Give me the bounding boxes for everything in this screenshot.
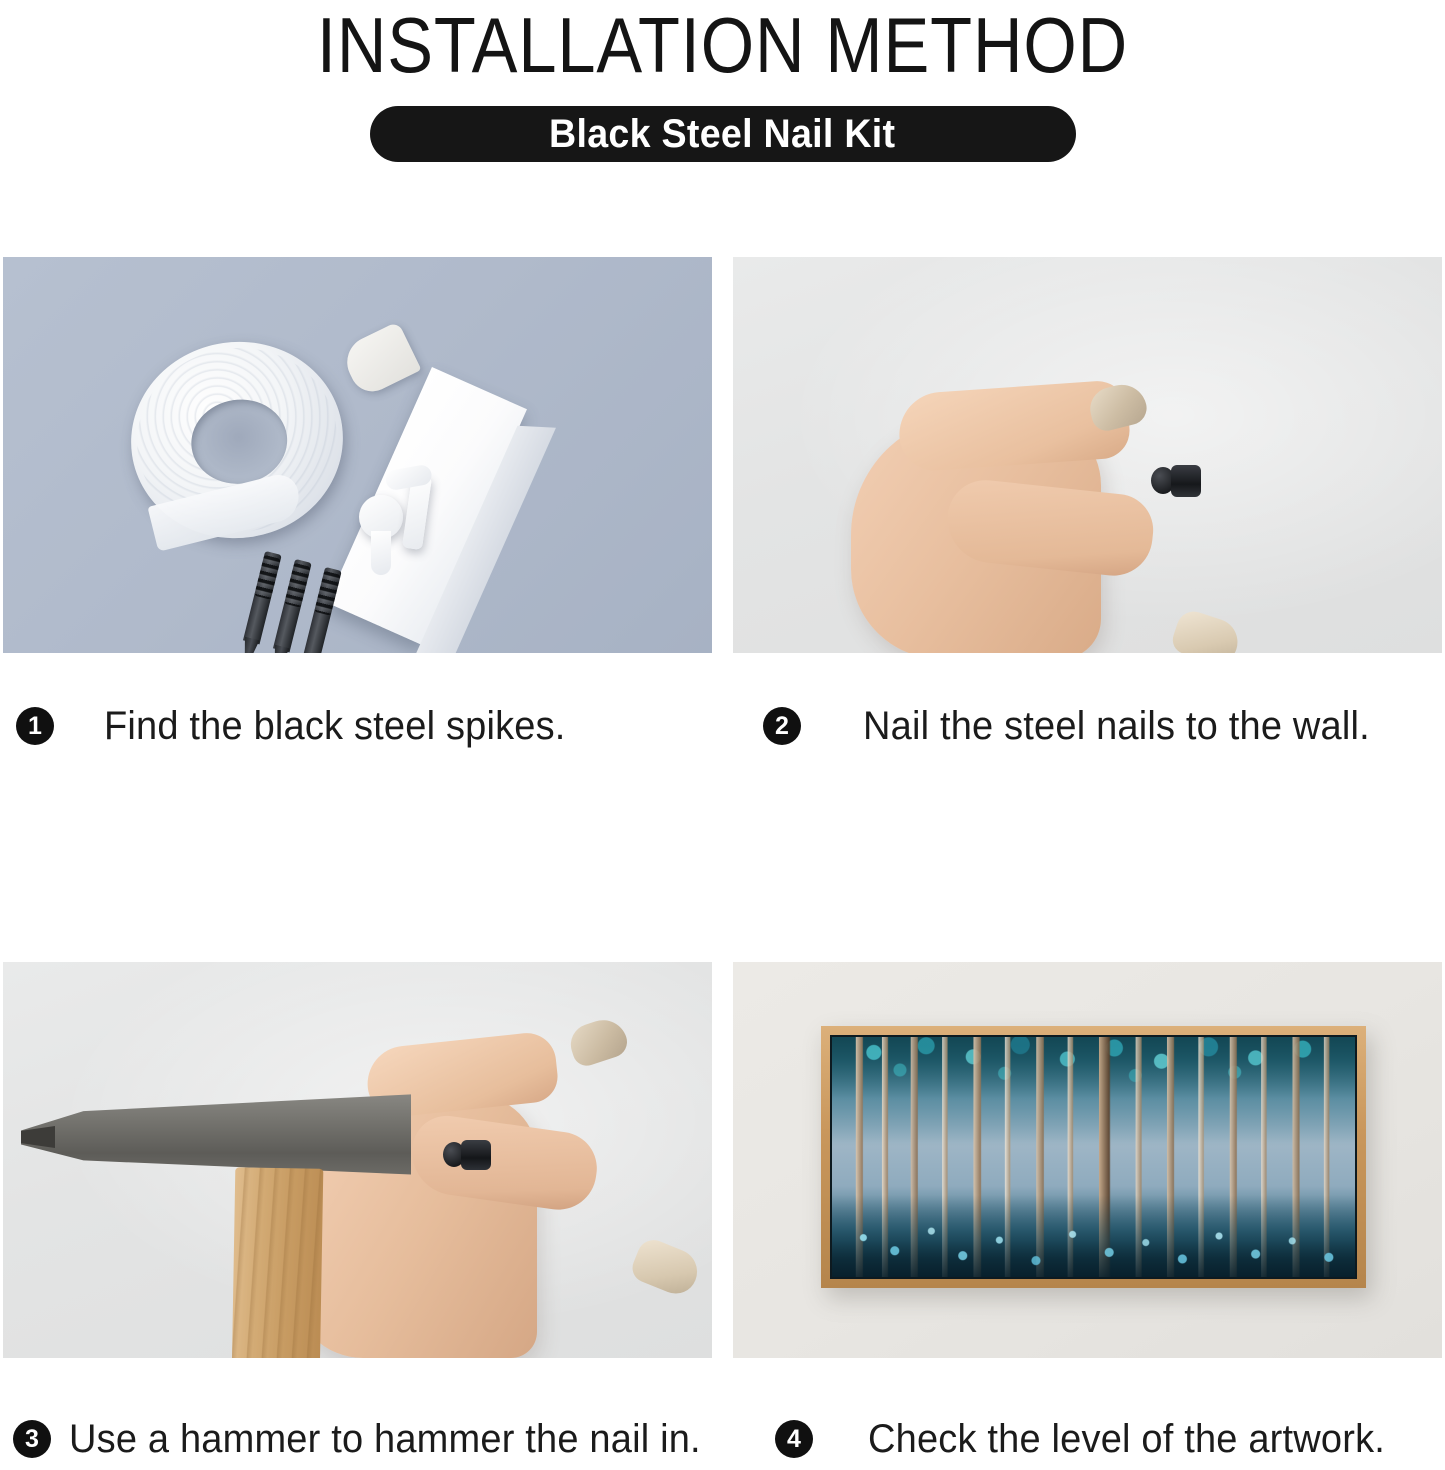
step-cell-1: Black steel nail kit laid out: clear dou… bbox=[3, 257, 712, 757]
step-3-text: Use a hammer to hammer the nail in. bbox=[69, 1417, 701, 1462]
box-lid-flap bbox=[339, 321, 422, 398]
step-3-photo: A hammer with a wooden handle held next … bbox=[3, 962, 712, 1358]
steel-spike-icon bbox=[273, 559, 312, 652]
wood-grain bbox=[231, 1167, 324, 1358]
step-4-caption: 4 Check the level of the artwork. bbox=[733, 1408, 1442, 1470]
fingernail bbox=[565, 1014, 631, 1069]
step-2-image-alt: A hand with manicured nails holding a sm… bbox=[733, 257, 734, 258]
black-steel-nail-icon bbox=[1151, 465, 1207, 497]
white-hook-round bbox=[359, 495, 403, 539]
step-1-image-alt: Black steel nail kit laid out: clear dou… bbox=[3, 257, 4, 258]
thumbnail bbox=[628, 1235, 704, 1300]
step-2-text: Nail the steel nails to the wall. bbox=[863, 704, 1370, 749]
hand-holding-nail bbox=[851, 387, 1181, 653]
step-2-caption: 2 Nail the steel nails to the wall. bbox=[733, 695, 1442, 757]
hand-positioning-nail bbox=[293, 1040, 603, 1358]
step-1-caption: 1 Find the black steel spikes. bbox=[3, 695, 712, 757]
step-number-badge-3: 3 bbox=[13, 1420, 51, 1458]
step-1-photo: Black steel nail kit laid out: clear dou… bbox=[3, 257, 712, 653]
hammer-wooden-handle bbox=[231, 1167, 324, 1358]
black-steel-nail-icon bbox=[443, 1140, 499, 1170]
step-1-text: Find the black steel spikes. bbox=[104, 704, 566, 749]
picture-frame bbox=[821, 1026, 1366, 1288]
page-title: INSTALLATION METHOD bbox=[87, 2, 1359, 88]
steps-row-1: Black steel nail kit laid out: clear dou… bbox=[0, 257, 1445, 757]
step-4-image-alt: A framed birch forest canvas painting in… bbox=[733, 962, 734, 963]
step-cell-4: A framed birch forest canvas painting in… bbox=[733, 962, 1442, 1470]
step-2-photo: A hand with manicured nails holding a sm… bbox=[733, 257, 1442, 653]
steps-row-2: A hammer with a wooden handle held next … bbox=[0, 962, 1445, 1470]
step-number-badge-1: 1 bbox=[16, 707, 54, 745]
step-number-badge-4: 4 bbox=[775, 1420, 813, 1458]
box-side-panel bbox=[415, 426, 556, 653]
understory-speckles bbox=[832, 1195, 1355, 1277]
step-3-caption: 3 Use a hammer to hammer the nail in. bbox=[3, 1408, 712, 1470]
hammer-head bbox=[21, 1090, 411, 1178]
step-3-image-alt: A hammer with a wooden handle held next … bbox=[3, 962, 4, 963]
step-number-badge-2: 2 bbox=[763, 707, 801, 745]
canvas-painting bbox=[830, 1035, 1357, 1279]
installation-method-infographic: { "header": { "title": "INSTALLATION MET… bbox=[0, 0, 1445, 1350]
product-badge: Black Steel Nail Kit bbox=[370, 106, 1076, 162]
steel-spike-icon bbox=[303, 567, 342, 653]
step-cell-3: A hammer with a wooden handle held next … bbox=[3, 962, 712, 1470]
step-4-photo: A framed birch forest canvas painting in… bbox=[733, 962, 1442, 1358]
step-4-text: Check the level of the artwork. bbox=[868, 1417, 1385, 1462]
fingernail bbox=[1086, 380, 1150, 434]
tape-roll-icon bbox=[118, 328, 355, 552]
product-badge-label: Black Steel Nail Kit bbox=[549, 112, 895, 157]
subtitle-badge-wrapper: Black Steel Nail Kit bbox=[0, 106, 1445, 162]
index-finger bbox=[897, 379, 1132, 473]
steps-grid: Black steel nail kit laid out: clear dou… bbox=[0, 257, 1445, 1470]
thumbnail bbox=[1169, 607, 1243, 653]
steel-spike-icon bbox=[243, 551, 282, 644]
header: INSTALLATION METHOD Black Steel Nail Kit bbox=[0, 0, 1445, 162]
step-cell-2: A hand with manicured nails holding a sm… bbox=[733, 257, 1442, 757]
